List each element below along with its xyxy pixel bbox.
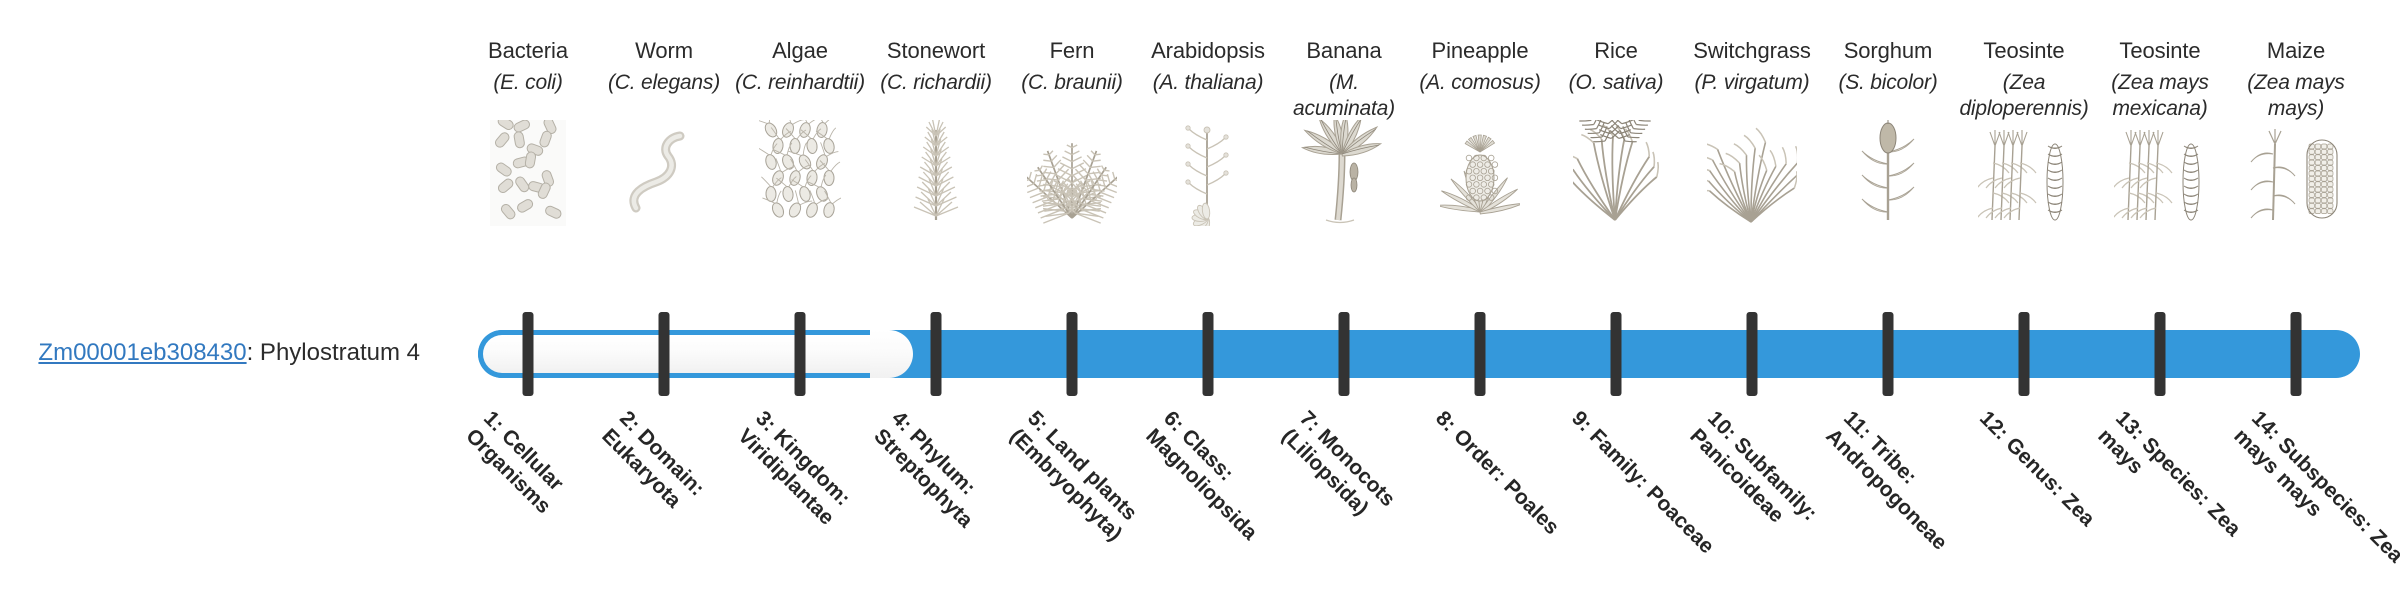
- rank-text: Domain: Eukaryota: [597, 424, 708, 512]
- species-latin-name: (Zea mays mays): [2228, 70, 2364, 122]
- species-latin-name: (C. braunii): [1004, 70, 1140, 96]
- rank-label: 8: Order: Poales: [1430, 406, 1596, 572]
- rank-text: Kingdom: Viridiplantae: [733, 424, 854, 529]
- species-common-name: Fern: [1004, 38, 1140, 64]
- rank-text: Species: Zea mays: [2093, 424, 2245, 540]
- fern-icon: [1004, 120, 1140, 226]
- tick-mark: [2291, 312, 2302, 396]
- species-common-name: Teosinte: [2092, 38, 2228, 64]
- species-common-name: Pineapple: [1412, 38, 1548, 64]
- teosinte-icon: [1956, 120, 2092, 226]
- rank-text: Monocots (Liliopsida): [1277, 424, 1399, 519]
- species-column: Teosinte(Zea diploperennis): [1956, 38, 2092, 122]
- species-common-name: Sorghum: [1820, 38, 1956, 64]
- species-common-name: Maize: [2228, 38, 2364, 64]
- species-column: Rice(O. sativa): [1548, 38, 1684, 96]
- species-column: Worm(C. elegans): [596, 38, 732, 96]
- species-latin-name: (E. coli): [460, 70, 596, 96]
- species-header-row: Bacteria(E. coli)Worm(C. elegans)Algae(C…: [460, 38, 2364, 308]
- species-column: Arabidopsis(A. thaliana): [1140, 38, 1276, 96]
- species-latin-name: (O. sativa): [1548, 70, 1684, 96]
- species-column: Switchgrass(P. virgatum): [1684, 38, 1820, 96]
- rank-number: 9:: [1567, 407, 1596, 436]
- tick-mark: [931, 312, 942, 396]
- phylostratum-text: : Phylostratum 4: [247, 339, 420, 366]
- tick-mark: [523, 312, 534, 396]
- species-column: Maize(Zea mays mays): [2228, 38, 2364, 122]
- stonewort-icon: [868, 120, 1004, 226]
- species-common-name: Stonewort: [868, 38, 1004, 64]
- rank-text: Cellular Organisms: [461, 424, 567, 518]
- bacteria-icon: [460, 120, 596, 226]
- species-latin-name: (S. bicolor): [1820, 70, 1956, 96]
- teosinte-icon: [2092, 120, 2228, 226]
- species-column: Pineapple(A. comosus): [1412, 38, 1548, 96]
- species-latin-name: (P. virgatum): [1684, 70, 1820, 96]
- species-latin-name: (C. reinhardtii): [732, 70, 868, 96]
- progress-bar-unfilled: [478, 330, 913, 378]
- algae-icon: [732, 120, 868, 226]
- species-column: Teosinte(Zea mays mexicana): [2092, 38, 2228, 122]
- species-column: Fern(C. braunii): [1004, 38, 1140, 96]
- tick-mark: [1747, 312, 1758, 396]
- tick-mark: [2155, 312, 2166, 396]
- species-latin-name: (A. comosus): [1412, 70, 1548, 96]
- rank-number: 12:: [1975, 407, 2013, 445]
- tick-mark: [1339, 312, 1350, 396]
- species-common-name: Algae: [732, 38, 868, 64]
- rank-text: Phylum: Streptophyta: [869, 424, 980, 532]
- rank-text: Order: Poales: [1449, 425, 1563, 539]
- species-common-name: Worm: [596, 38, 732, 64]
- tick-mark: [1883, 312, 1894, 396]
- species-common-name: Arabidopsis: [1140, 38, 1276, 64]
- species-column: Bacteria(E. coli): [460, 38, 596, 96]
- phylostratum-diagram: Zm00001eb308430: Phylostratum 4 Bacteria…: [0, 0, 2400, 580]
- tick-mark: [795, 312, 806, 396]
- species-column: Stonewort(C. richardii): [868, 38, 1004, 96]
- rank-text: Genus: Zea: [2001, 433, 2099, 531]
- species-latin-name: (Zea diploperennis): [1956, 70, 2092, 122]
- maize-icon: [2228, 120, 2364, 226]
- species-common-name: Switchgrass: [1684, 38, 1820, 64]
- tick-mark: [1611, 312, 1622, 396]
- species-common-name: Bacteria: [460, 38, 596, 64]
- species-column: Banana(M. acuminata): [1276, 38, 1412, 122]
- banana-icon: [1276, 120, 1412, 226]
- arabidopsis-icon: [1140, 120, 1276, 226]
- gene-phylostratum-label: Zm00001eb308430: Phylostratum 4: [0, 338, 420, 368]
- switchgrass-icon: [1684, 120, 1820, 226]
- rank-text: Subfamily: Panicoideae: [1685, 424, 1821, 527]
- species-column: Algae(C. reinhardtii): [732, 38, 868, 96]
- sorghum-icon: [1820, 120, 1956, 226]
- tick-mark: [659, 312, 670, 396]
- species-latin-name: (C. elegans): [596, 70, 732, 96]
- tick-mark: [1067, 312, 1078, 396]
- worm-icon: [596, 120, 732, 226]
- tick-mark: [2019, 312, 2030, 396]
- tick-mark: [1203, 312, 1214, 396]
- species-latin-name: (M. acuminata): [1276, 70, 1412, 122]
- species-common-name: Teosinte: [1956, 38, 2092, 64]
- progress-bar-cap: [870, 330, 913, 378]
- species-latin-name: (C. richardii): [868, 70, 1004, 96]
- phylostratum-progress-bar: [478, 330, 2360, 378]
- pineapple-icon: [1412, 120, 1548, 226]
- rice-icon: [1548, 120, 1684, 226]
- species-latin-name: (Zea mays mexicana): [2092, 70, 2228, 122]
- gene-accession-link[interactable]: Zm00001eb308430: [38, 339, 246, 366]
- species-common-name: Banana: [1276, 38, 1412, 64]
- rank-number: 8:: [1431, 407, 1460, 436]
- species-column: Sorghum(S. bicolor): [1820, 38, 1956, 96]
- species-common-name: Rice: [1548, 38, 1684, 64]
- species-latin-name: (A. thaliana): [1140, 70, 1276, 96]
- tick-mark: [1475, 312, 1486, 396]
